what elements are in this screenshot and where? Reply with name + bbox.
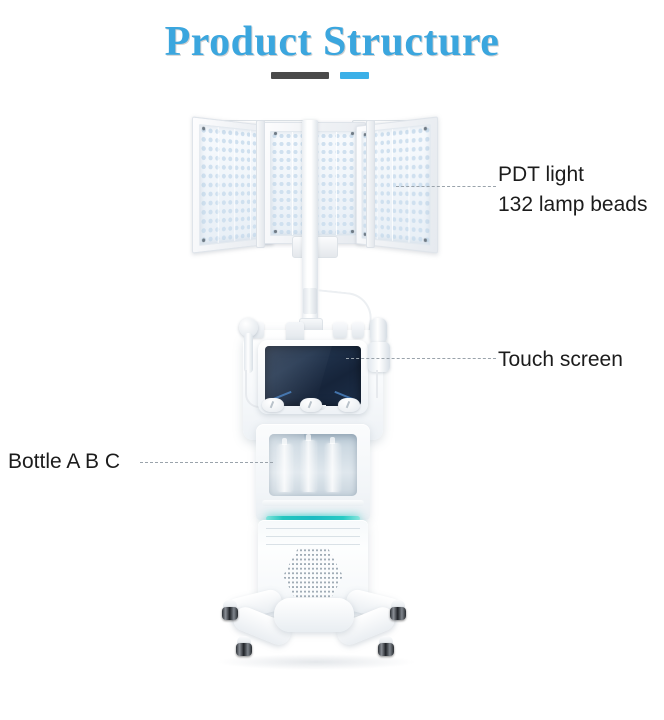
- handpiece-cord: [376, 370, 384, 398]
- callout-pdt-light: PDT light 132 lamp beads: [498, 160, 647, 220]
- pole-joint: [303, 288, 317, 314]
- page-root: Product Structure: [0, 0, 664, 720]
- control-knob-3[interactable]: [338, 398, 360, 412]
- leader-line-pdt-light: [396, 186, 496, 187]
- callout-pdt-light-line2: 132 lamp beads: [498, 190, 647, 220]
- bottle-compartment[interactable]: [269, 434, 357, 496]
- control-knob-row: [262, 396, 364, 416]
- callout-pdt-light-line1: PDT light: [498, 160, 647, 190]
- control-knob-1[interactable]: [262, 398, 284, 412]
- callout-bottle-abc-line1: Bottle A B C: [8, 447, 120, 477]
- body-seam: [266, 536, 360, 537]
- caster-tyre: [222, 607, 238, 620]
- caster-wheel-front-left: [236, 636, 252, 656]
- bottle-c: [326, 443, 340, 492]
- base-hub: [274, 598, 354, 632]
- floor-shadow: [216, 654, 416, 670]
- body-seam: [266, 544, 360, 545]
- trolley-base: [226, 588, 402, 636]
- cabinet-lip: [262, 500, 364, 506]
- handpiece-holder-3: [333, 322, 347, 338]
- handpiece-holder-4: [352, 322, 364, 338]
- caster-wheel-front-right: [378, 636, 394, 656]
- leader-line-touch-screen: [346, 358, 496, 359]
- panel-hinge-left: [256, 120, 265, 248]
- handpiece-body: [244, 333, 253, 373]
- window-glare: [269, 434, 304, 496]
- callout-touch-screen-line1: Touch screen: [498, 345, 623, 375]
- handpiece-body: [368, 342, 390, 372]
- handpiece-tip: [370, 318, 387, 344]
- leader-line-bottle-abc: [140, 462, 273, 463]
- callout-bottle-abc: Bottle A B C: [8, 447, 120, 477]
- caster-tyre: [390, 607, 406, 620]
- panel-hinge-right: [366, 120, 375, 248]
- control-knob-2[interactable]: [300, 398, 322, 412]
- callout-touch-screen: Touch screen: [498, 345, 623, 375]
- body-seam: [266, 528, 360, 529]
- handpiece-right: [366, 318, 394, 394]
- caster-wheel-back-right: [390, 600, 406, 620]
- caster-wheel-back-left: [222, 600, 238, 620]
